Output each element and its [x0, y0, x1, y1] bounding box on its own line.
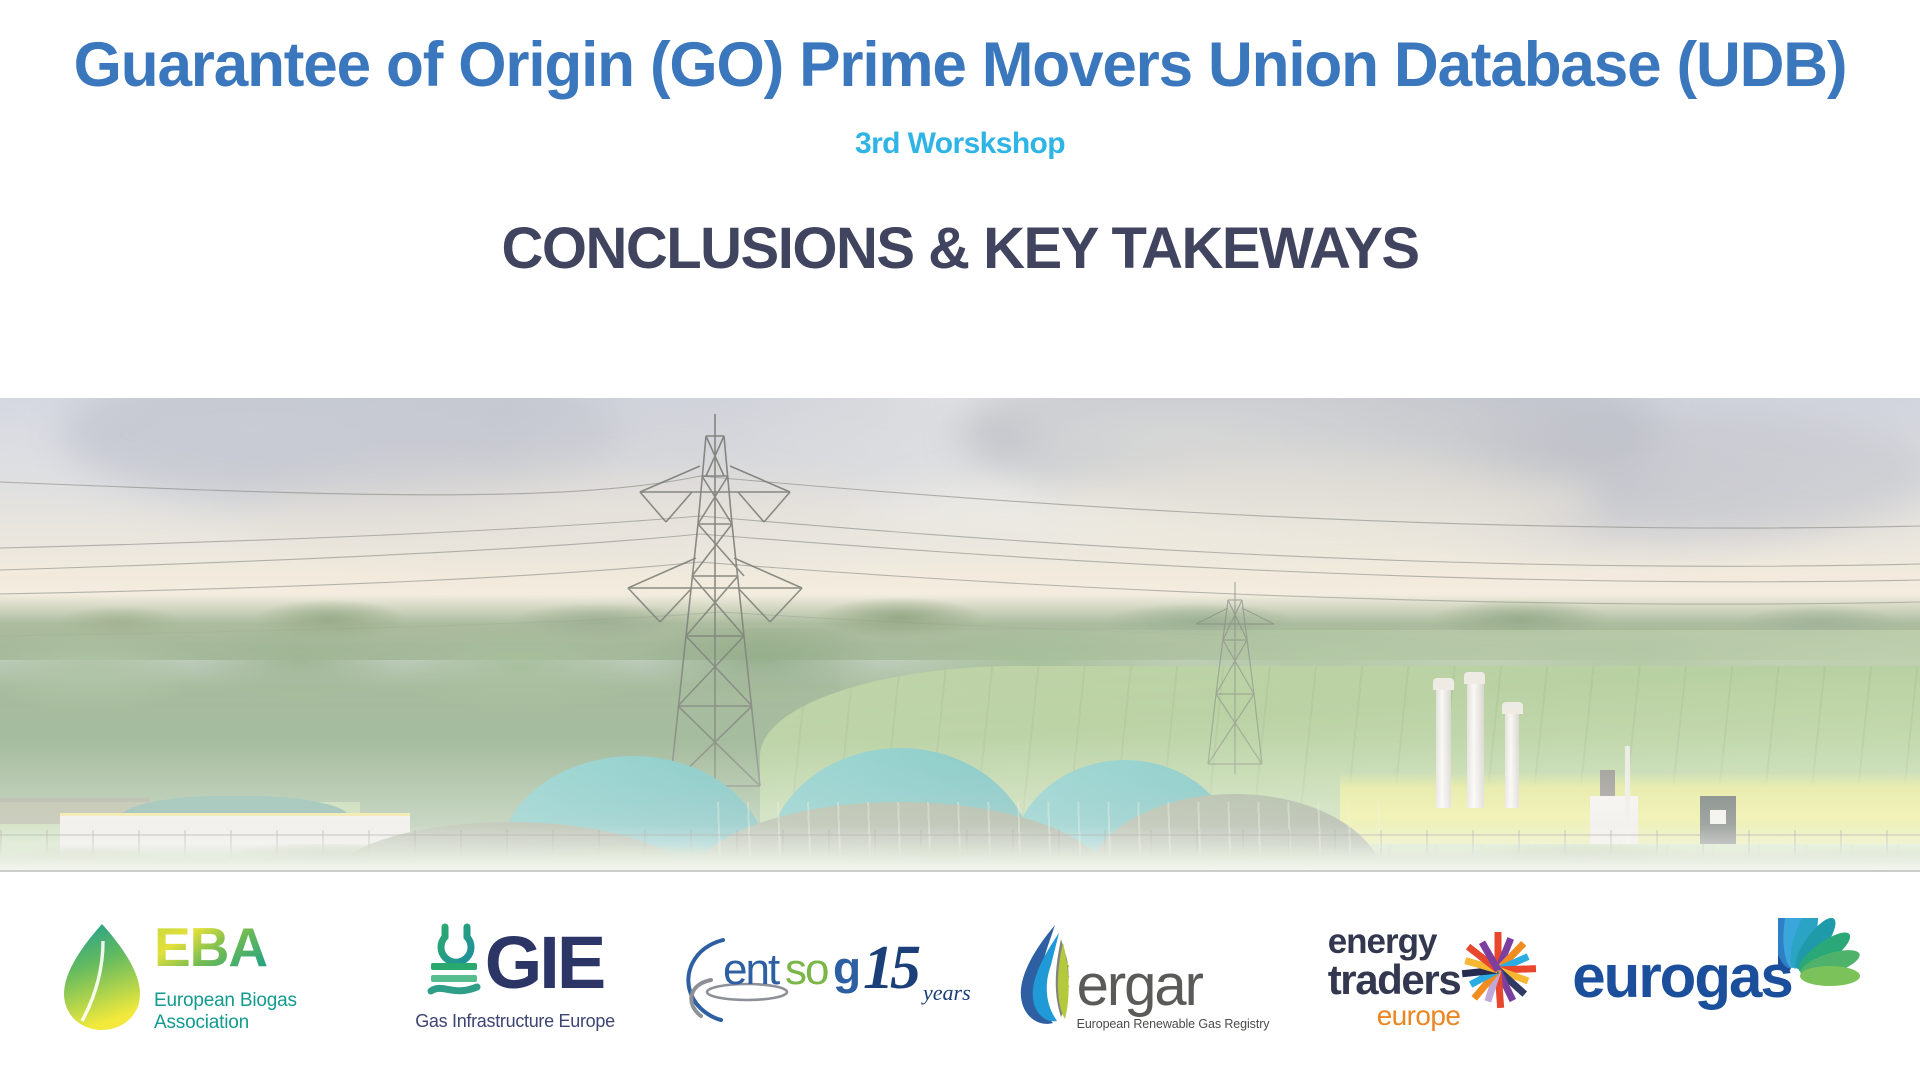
transmission-pylon-secondary-icon	[1190, 578, 1280, 778]
leaf-drop-icon	[60, 921, 144, 1033]
logo-energy-traders-europe[interactable]: energy traders europe	[1290, 902, 1580, 1052]
photo-bottom-edge	[0, 870, 1920, 872]
eba-wordmark-icon: EBA	[154, 920, 350, 976]
gie-acronym: GIE	[485, 929, 603, 997]
svg-text:so: so	[785, 945, 828, 994]
header-block: Guarantee of Origin (GO) Prime Movers Un…	[0, 0, 1920, 398]
ete-line1: energy	[1328, 925, 1461, 959]
presentation-slide: Guarantee of Origin (GO) Prime Movers Un…	[0, 0, 1920, 1080]
gie-name: Gas Infrastructure Europe	[415, 1011, 615, 1032]
logo-ergar[interactable]: ergar European Renewable Gas Registry	[990, 902, 1290, 1052]
gas-upgrading-tower	[1467, 680, 1484, 808]
eba-name-line2: Association	[154, 1012, 350, 1034]
hero-photo	[0, 398, 1920, 872]
section-heading: CONCLUSIONS & KEY TAKEWAYS	[0, 213, 1920, 286]
svg-text:g: g	[833, 942, 859, 994]
gas-upgrading-tower	[1436, 686, 1451, 808]
petal-fan-icon	[1778, 918, 1888, 1036]
svg-text:EBA: EBA	[154, 920, 267, 976]
logo-eba[interactable]: EBA European Biogas Association	[40, 902, 370, 1052]
entsog-logo-icon: ent so g 15 years	[675, 922, 975, 1032]
eurogas-wordmark: eurogas	[1572, 947, 1791, 1007]
logo-eurogas[interactable]: eurogas	[1580, 902, 1880, 1052]
gas-meter-icon	[427, 923, 481, 1005]
partner-logo-bar: EBA European Biogas Association	[0, 874, 1920, 1080]
tower-cap	[1464, 672, 1485, 684]
ergar-wordmark: ergar	[1077, 958, 1270, 1013]
logo-gie[interactable]: GIE Gas Infrastructure Europe	[370, 902, 660, 1052]
page-title: Guarantee of Origin (GO) Prime Movers Un…	[14, 30, 1905, 101]
eba-acronym: EBA	[154, 920, 350, 983]
svg-text:ent: ent	[723, 945, 780, 994]
foreground-hedge	[0, 844, 1920, 872]
gas-upgrading-tower	[1505, 710, 1519, 808]
eba-name-line1: European Biogas	[154, 990, 350, 1012]
ergar-droplet-icon	[1011, 923, 1083, 1031]
logo-entsog[interactable]: ent so g 15 years	[660, 902, 990, 1052]
tower-cap	[1502, 702, 1523, 714]
pinwheel-burst-icon	[1454, 926, 1542, 1014]
ete-line2: traders	[1328, 959, 1461, 1000]
workshop-subtitle: 3rd Worskshop	[0, 124, 1920, 163]
svg-text:years: years	[921, 980, 971, 1005]
fence-rail	[0, 834, 1920, 836]
tower-cap	[1433, 678, 1454, 690]
ergar-tagline: European Renewable Gas Registry	[1077, 1017, 1270, 1031]
svg-text:15: 15	[863, 934, 920, 1002]
ete-line3: europe	[1328, 1002, 1461, 1029]
